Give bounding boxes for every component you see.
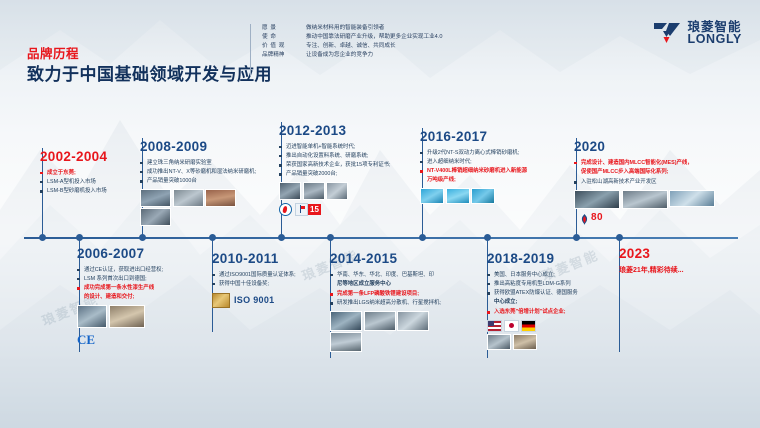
card-note: 琅菱21年,精彩待续... bbox=[619, 266, 734, 275]
bullet-item: 产品销量突破1000台 bbox=[140, 177, 265, 185]
card-year: 2020 bbox=[574, 140, 726, 154]
torch-80-value: 80 bbox=[591, 212, 603, 223]
bullet-item: 升级2代NT-S双动力离心式棒销砂磨机; bbox=[420, 149, 555, 157]
card-bullets-2: 入选东莞"倍增计划"试点企业; bbox=[487, 308, 609, 316]
card-thumbnails bbox=[279, 182, 409, 200]
card-bullets: 完成设计、建造国内MLCC智能化(MES)产线， bbox=[574, 159, 726, 167]
value-text: 专注、创新、卓越、诚信、共同成长 bbox=[306, 43, 396, 49]
iso-9001-label: ISO 9001 bbox=[234, 295, 274, 305]
card-subtext: 万吨级产线; bbox=[420, 176, 555, 184]
card-bullets: 迈进智能单机+智能系统时代; 推出自动化设置料系统、研磨系统; 荣获国家高新技术… bbox=[279, 143, 409, 178]
bullet-item: 入选东莞"倍增计划"试点企业; bbox=[487, 308, 609, 316]
bullet-item: 获得中国十佳设备奖; bbox=[212, 280, 322, 288]
thumbnail-image bbox=[205, 189, 236, 207]
thumbnail-image bbox=[513, 334, 537, 350]
thumbnail-image bbox=[397, 311, 429, 331]
card-year: 2023 bbox=[619, 247, 734, 261]
value-row-spirit: 品牌精神 让设备成为您企业的竞争力 bbox=[262, 52, 522, 58]
timeline-card-2016-2017[interactable]: 2016-2017 升级2代NT-S双动力离心式棒销砂磨机; 进入超细纳米时代;… bbox=[420, 130, 555, 204]
card-thumbnails bbox=[420, 188, 555, 204]
value-text: 做纳米材料用的智能装备引领者 bbox=[306, 25, 384, 31]
bullet-item: 通过CE认证，获取进出口经营权; bbox=[77, 266, 195, 274]
high-tech-enterprise-badge bbox=[279, 203, 292, 216]
bullet-item: 成功完成第一条水性漆生产线 bbox=[77, 284, 195, 292]
card-badges: 15 bbox=[279, 203, 409, 216]
value-row-values: 价 值 观 专注、创新、卓越、诚信、共同成长 bbox=[262, 43, 522, 49]
thumbnail-image bbox=[574, 190, 620, 209]
value-text: 推动中国靠法研磨产业升级，帮助更多企业实现工业4.0 bbox=[306, 34, 442, 40]
card-year: 2010-2011 bbox=[212, 252, 322, 266]
bullet-item: LSM-A型机投入市场 bbox=[40, 178, 135, 186]
card-subtext: 中心成立; bbox=[487, 298, 609, 306]
company-values-block: 愿 景 做纳米材料用的智能装备引领者 使 命 推动中国靠法研磨产业升级，帮助更多… bbox=[262, 25, 522, 61]
timeline-card-2012-2013[interactable]: 2012-2013 迈进智能单机+智能系统时代; 推出自动化设置料系统、研磨系统… bbox=[279, 124, 409, 216]
timeline-axis bbox=[24, 237, 738, 239]
country-flags-badge bbox=[487, 320, 609, 332]
slide-header: 品牌历程 致力于中国基础领域开发与应用 愿 景 做纳米材料用的智能装备引领者 使… bbox=[0, 0, 760, 100]
value-label: 愿 景 bbox=[262, 25, 306, 31]
torch-icon bbox=[580, 212, 589, 223]
patent-count-badge: 15 bbox=[295, 203, 321, 216]
bullet-item: 进入超细纳米时代; bbox=[420, 158, 555, 166]
bullet-item: 完成第一条LFP磷酸铁锂建设项目; bbox=[330, 290, 458, 298]
patent-count-value: 15 bbox=[308, 204, 321, 215]
flag-us-icon bbox=[487, 320, 502, 332]
bullet-item: 成立于东莞; bbox=[40, 169, 135, 177]
card-subtext: 的设计、建造和交付; bbox=[77, 293, 195, 301]
bullet-item: 获得欧盟ATEX防爆认证、德国服务 bbox=[487, 289, 609, 297]
card-bullets: 成立于东莞; LSM-A型机投入市场 LSM-B型砂磨机投入市场 bbox=[40, 169, 135, 195]
page-title: 致力于中国基础领域开发与应用 bbox=[27, 60, 272, 85]
card-year: 2006-2007 bbox=[77, 247, 195, 261]
company-logo: 琅菱智能 LONGLY bbox=[653, 20, 742, 46]
thumbnail-image bbox=[140, 208, 171, 226]
bullet-item: 美国、日本服务中心成立; bbox=[487, 271, 609, 279]
timeline-card-2002-2004[interactable]: 2002-2004 成立于东莞; LSM-A型机投入市场 LSM-B型砂磨机投入… bbox=[40, 150, 135, 196]
bullet-item: 荣获国家高新技术企业，获批15项专利证书; bbox=[279, 161, 409, 169]
thumbnail-image bbox=[140, 189, 171, 207]
logo-wordmark: 琅菱智能 LONGLY bbox=[687, 21, 742, 46]
card-bullets-2: 完成第一条LFP磷酸铁锂建设项目; 研发推出LGS纳米超高分散机、行星搅拌机; bbox=[330, 290, 458, 307]
medal-icon bbox=[212, 293, 230, 308]
timeline-card-2018-2019[interactable]: 2018-2019 美国、日本服务中心成立; 推出高粘度专用机型LDM-G系列 … bbox=[487, 252, 609, 350]
thumbnail-image bbox=[330, 311, 362, 331]
thumbnail-image bbox=[173, 189, 204, 207]
value-text: 让设备成为您企业的竞争力 bbox=[306, 52, 373, 58]
bullet-item: 入驻松山湖高新技术产业开发区 bbox=[574, 178, 726, 186]
bullet-item: 完成设计、建造国内MLCC智能化(MES)产线， bbox=[574, 159, 726, 167]
card-bullets: 华南、华东、华北、印度、巴基斯坦、印 bbox=[330, 271, 458, 279]
timeline-card-2014-2015[interactable]: 2014-2015 华南、华东、华北、印度、巴基斯坦、印 尼等地区成立服务中心 … bbox=[330, 252, 458, 352]
timeline-card-2006-2007[interactable]: 2006-2007 通过CE认证，获取进出口经营权; LSM 系列首次出口到德国… bbox=[77, 247, 195, 348]
flag-japan-icon bbox=[504, 320, 519, 332]
header-divider bbox=[250, 24, 251, 76]
slide-canvas: 琅菱智能 琅菱智能 琅菱智能 品牌历程 致力于中国基础领域开发与应用 愿 景 做… bbox=[0, 0, 760, 428]
thumbnail-image bbox=[471, 188, 495, 204]
card-thumbnails bbox=[487, 334, 609, 350]
bullet-item: 华南、华东、华北、印度、巴基斯坦、印 bbox=[330, 271, 458, 279]
ce-mark-badge: CE bbox=[77, 332, 195, 348]
card-bullets: 通过ISO9001国际质量认证体系; 获得中国十佳设备奖; bbox=[212, 271, 322, 288]
timeline-card-2023[interactable]: 2023 琅菱21年,精彩待续... bbox=[619, 247, 734, 275]
logo-english: LONGLY bbox=[687, 33, 742, 46]
thumbnail-image bbox=[279, 182, 301, 200]
patent-icon bbox=[295, 203, 308, 216]
card-subtext: 尼等地区成立服务中心 bbox=[330, 280, 458, 288]
thumbnail-image bbox=[669, 190, 715, 207]
value-label: 价 值 观 bbox=[262, 43, 306, 49]
thumbnail-image bbox=[330, 332, 362, 352]
bullet-item: 成功推出NT-V、X等砂磨机和湿法纳米研磨机; bbox=[140, 168, 265, 176]
card-year: 2002-2004 bbox=[40, 150, 135, 164]
card-year: 2018-2019 bbox=[487, 252, 609, 266]
timeline-card-2020[interactable]: 2020 完成设计、建造国内MLCC智能化(MES)产线， 促使国产MLCC步入… bbox=[574, 140, 726, 223]
bullet-item: 推出自动化设置料系统、研磨系统; bbox=[279, 152, 409, 160]
card-year: 2014-2015 bbox=[330, 252, 458, 266]
value-label: 使 命 bbox=[262, 34, 306, 40]
bullet-item: NT-V400L棒销超细纳米砂磨机进入新能源 bbox=[420, 167, 555, 175]
card-thumbnails bbox=[77, 305, 195, 328]
bullet-item: 产品销量突破2000台; bbox=[279, 170, 409, 178]
card-bullets: 升级2代NT-S双动力离心式棒销砂磨机; 进入超细纳米时代; NT-V400L棒… bbox=[420, 149, 555, 175]
bullet-item: LSM-B型砂磨机投入市场 bbox=[40, 187, 135, 195]
thumbnail-image bbox=[109, 305, 145, 328]
card-bullets-2: 入驻松山湖高新技术产业开发区 bbox=[574, 178, 726, 186]
longly-logo-icon bbox=[653, 20, 681, 46]
bullet-item: LSM 系列首次出口到德国; bbox=[77, 275, 195, 283]
card-year: 2016-2017 bbox=[420, 130, 555, 144]
bullet-item: 研发推出LGS纳米超高分散机、行星搅拌机; bbox=[330, 299, 458, 307]
thumbnail-image bbox=[446, 188, 470, 204]
value-row-vision: 愿 景 做纳米材料用的智能装备引领者 bbox=[262, 25, 522, 31]
bullet-item: 通过ISO9001国际质量认证体系; bbox=[212, 271, 322, 279]
thumbnail-image bbox=[364, 311, 396, 331]
timeline-card-2010-2011[interactable]: 2010-2011 通过ISO9001国际质量认证体系; 获得中国十佳设备奖; … bbox=[212, 252, 322, 308]
card-year: 2008-2009 bbox=[140, 140, 265, 154]
thumbnail-image bbox=[77, 305, 107, 328]
card-thumbnails bbox=[140, 189, 265, 227]
bullet-item: 推出高粘度专用机型LDM-G系列 bbox=[487, 280, 609, 288]
torch-80-badge: 80 bbox=[580, 212, 603, 223]
card-bullets: 建立珠三角纳米研磨实验室 成功推出NT-V、X等砂磨机和湿法纳米研磨机; 产品销… bbox=[140, 159, 265, 185]
card-bullets: 通过CE认证，获取进出口经营权; LSM 系列首次出口到德国; 成功完成第一条水… bbox=[77, 266, 195, 292]
thumbnail-image bbox=[326, 182, 348, 200]
flag-germany-icon bbox=[521, 320, 536, 332]
card-thumbnails: 80 bbox=[574, 190, 726, 224]
value-label: 品牌精神 bbox=[262, 52, 306, 58]
thumbnail-image bbox=[622, 190, 668, 209]
thumbnail-image bbox=[303, 182, 325, 200]
timeline-card-2008-2009[interactable]: 2008-2009 建立珠三角纳米研磨实验室 成功推出NT-V、X等砂磨机和湿法… bbox=[140, 140, 265, 226]
iso-9001-badge: ISO 9001 bbox=[212, 293, 322, 308]
card-thumbnails bbox=[330, 311, 458, 353]
thumbnail-image bbox=[420, 188, 444, 204]
bullet-item: 建立珠三角纳米研磨实验室 bbox=[140, 159, 265, 167]
value-row-mission: 使 命 推动中国靠法研磨产业升级，帮助更多企业实现工业4.0 bbox=[262, 34, 522, 40]
card-year: 2012-2013 bbox=[279, 124, 409, 138]
card-bullets: 美国、日本服务中心成立; 推出高粘度专用机型LDM-G系列 获得欧盟ATEX防爆… bbox=[487, 271, 609, 297]
bullet-item: 迈进智能单机+智能系统时代; bbox=[279, 143, 409, 151]
thumbnail-image bbox=[487, 334, 511, 350]
card-subtext: 促使国产MLCC步入高端国际化系列; bbox=[574, 168, 726, 176]
ce-mark-text: CE bbox=[77, 332, 95, 348]
